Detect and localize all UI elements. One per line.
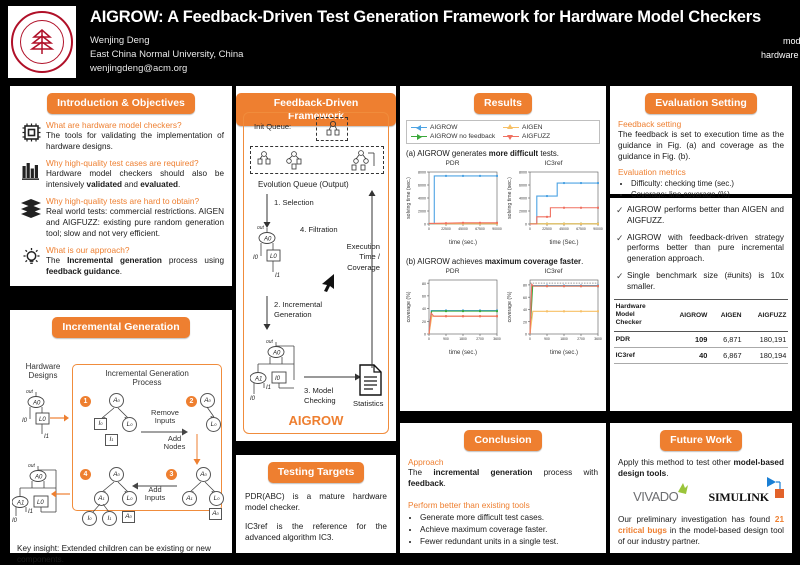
svg-text:4000: 4000 [519,196,527,200]
svg-text:60: 60 [523,295,527,299]
svg-text:0: 0 [428,227,430,231]
section-introduction: Introduction & Objectives [10,86,232,286]
svg-text:I1: I1 [275,273,280,279]
svg-text:2700: 2700 [476,337,484,341]
chart-svg: 02000400060008000022500450006750090000ti… [504,168,603,246]
conclusion-bullets: Generate more difficult test cases. Achi… [420,512,598,548]
intro-text: Why high-quality test cases are required… [46,158,224,190]
svg-text:67500: 67500 [475,227,485,231]
section-findings: ✓ AIGROW performs better than AIGEN and … [610,198,792,411]
intro-item: Why high-quality test cases are required… [16,158,224,190]
svg-text:L0: L0 [270,254,277,260]
evolution-queue-label: Evolution Queue (Output) [258,180,349,190]
conclusion-bullet: Generate more difficult test cases. [420,512,598,524]
svg-text:A0: A0 [32,400,41,406]
legend-label: AIGEN [522,124,543,131]
cell-aigen: 6,871 [709,331,743,347]
testing-target-pdr: PDR(ABC) is a mature hardware model chec… [245,491,387,513]
tree4-node-a0b: A0 [122,511,135,523]
svg-text:time (sec.): time (sec.) [449,240,477,246]
keywords-block: Keywords: model-based testing hardware m… [761,22,800,63]
svg-text:solving time (sec.): solving time (sec.) [507,176,513,218]
feedback-hand-cursor-icon [318,272,340,294]
svg-text:22500: 22500 [441,227,451,231]
chart-svg: 0204060800900180027003600time (sec.)cove… [504,276,603,356]
results-table: HardwareModelChecker AIGROW AIGEN AIGFUZ… [614,299,789,364]
chip-icon [16,120,46,152]
check-icon: ✓ [616,233,627,265]
tree3-node-l0: L0 [209,491,224,506]
svg-text:22500: 22500 [542,227,552,231]
simulink-logo-text: SIMULINK [708,490,768,504]
legend-marker-aigrow-no-feedback [411,133,427,140]
hardware-designs-label: HardwareDesigns [18,362,68,380]
intro-question: Why high-quality tests are hard to obtai… [46,196,224,206]
tree3-node-a1: A1 [182,491,197,506]
finding-text: Single benchmark size (#units) is 10x sm… [627,271,784,293]
future-closing-text: Our preliminary investigation has found … [618,514,784,547]
legend-item-aigen: AIGEN [503,124,595,131]
tree4-node-i1: I1 [102,511,117,526]
svg-text:time (Sec.): time (Sec.) [549,240,578,246]
poster-root: AIGROW: A Feedback-Driven Test Generatio… [0,0,800,562]
svg-text:out: out [28,463,36,469]
author-email: wenjingdeng@acm.org [90,62,761,76]
cell-checker: PDR [614,331,666,347]
legend-label: AIGROW no feedback [430,133,495,140]
ecnu-logo [8,6,76,78]
check-icon: ✓ [616,205,627,227]
svg-text:2000: 2000 [519,209,527,213]
results-caption-b: (b) AIGROW achieves maximum coverage fas… [406,257,606,266]
cell-aigfuzz: 180,191 [744,331,789,347]
svg-text:solving time (sec.): solving time (sec.) [406,176,412,218]
finding-text: AIGROW performs better than AIGEN and AI… [627,205,784,227]
tree-node-i1: I1 [105,434,118,446]
table-header-row: HardwareModelChecker AIGROW AIGEN AIGFUZ… [614,299,789,331]
cell-aigrow: 40 [666,347,710,363]
section-title-evaluation: Evaluation Setting [645,93,757,114]
cell-aigen: 6,867 [709,347,743,363]
legend-label: AIGFUZZ [522,133,550,140]
intro-answer: The Incremental generation process using… [46,255,224,277]
framework-circuit-2: out A0 A1 I0 I1 I0 [250,336,308,402]
books-icon [16,158,46,190]
feedback-setting-text: The feedback is set to execution time as… [618,129,784,162]
section-title-incremental: Incremental Generation [52,317,189,338]
step4-label: 4. Filtration [300,225,338,234]
step-badge-1: 1 [80,396,91,407]
arrow-add-inputs-icon [132,481,178,491]
simulink-logo: SIMULINK [708,488,768,506]
chart-title: IC3ref [504,268,603,275]
step2-label: 2. IncrementalGeneration [274,300,322,320]
stack-icon [16,196,46,239]
legend-label: AIGROW [430,124,457,131]
chart-ic3ref-solving-time: IC3ref 020004000600080000225004500067500… [504,160,603,251]
svg-text:90000: 90000 [593,227,603,231]
svg-text:3600: 3600 [493,337,501,341]
framework-circuit-1: out A0 L0 I0 I1 [252,222,300,284]
process-label: Incremental GenerationProcess [78,369,216,387]
svg-text:0: 0 [428,337,430,341]
section-title-future-work: Future Work [660,430,742,451]
poster-header: AIGROW: A Feedback-Driven Test Generatio… [0,0,800,84]
ecnu-tree-icon [29,28,55,56]
svg-text:67500: 67500 [576,227,586,231]
svg-text:L0: L0 [39,417,46,423]
svg-text:A1: A1 [16,500,24,506]
cell-aigfuzz: 180,194 [744,347,789,363]
section-conclusion: Conclusion Approach The incremental gene… [400,423,606,553]
intro-text: Why high-quality tests are hard to obtai… [46,196,224,239]
legend-marker-aigfuzz [503,133,519,140]
svg-text:0: 0 [424,222,426,226]
svg-text:I0: I0 [12,518,18,524]
remove-inputs-label: RemoveInputs [143,409,187,426]
conclusion-bullet: Fewer redundant units in a single test. [420,536,598,548]
cell-checker: IC3ref [614,347,666,363]
finding-item: ✓ AIGROW performs better than AIGEN and … [616,205,784,227]
legend-item-aigfuzz: AIGFUZZ [503,133,595,140]
evaluation-metrics-heading: Evaluation metrics [618,167,784,177]
chart-legend: AIGROW AIGEN AIGROW no feedback AIGFUZZ [406,120,600,144]
chart-svg: 02000400060008000022500450006750090000ti… [403,168,502,246]
evolution-queue-trees-icon [256,150,382,172]
simulink-mark-icon [766,477,784,499]
intro-answer: The tools for validating the implementat… [46,130,224,152]
step1-label: 1. Selection [274,198,314,207]
section-title-results: Results [474,93,532,114]
svg-text:out: out [257,225,265,231]
section-future-work: Future Work Apply this method to test ot… [610,423,792,553]
finding-item: ✓ Single benchmark size (#units) is 10x … [616,271,784,293]
init-queue-label: Init Queue: [254,122,291,131]
header-text-block: AIGROW: A Feedback-Driven Test Generatio… [76,8,761,75]
svg-text:0: 0 [529,227,531,231]
table-header-aigen: AIGEN [709,299,743,331]
chart-pdr-solving-time: PDR 020004000600080000225004500067500900… [403,160,502,251]
svg-text:60: 60 [422,294,426,298]
feedback-setting-heading: Feedback setting [618,119,784,129]
intro-item: What are hardware model checkers? The to… [16,120,224,152]
approach-text: The incremental generation process with … [408,467,598,489]
charts-row-difficulty: PDR 020004000600080000225004500067500900… [400,160,606,251]
svg-text:8000: 8000 [418,170,426,174]
step-badge-3: 3 [166,469,177,480]
svg-text:time (sec.): time (sec.) [550,350,578,356]
tree-node-l0: L0 [122,417,137,432]
svg-text:I1: I1 [28,509,33,515]
svg-text:out: out [26,389,34,395]
tree-node-i0: I0 [94,418,107,430]
svg-text:900: 900 [443,337,449,341]
step-badge-4: 4 [80,469,91,480]
svg-text:90000: 90000 [492,227,502,231]
section-incremental-generation: Incremental Generation HardwareDesigns o… [10,310,232,553]
intro-question: What are hardware model checkers? [46,120,224,130]
svg-text:0: 0 [529,337,531,341]
svg-text:45000: 45000 [559,227,569,231]
results-caption-a: (a) AIGROW generates more difficult test… [406,149,606,158]
svg-text:40: 40 [422,307,426,311]
tree4-node-i0: I0 [82,511,97,526]
arrow-right-1-icon [50,412,70,424]
svg-text:I0: I0 [22,418,28,424]
svg-text:0: 0 [525,332,527,336]
tree2-node-l0: L0 [206,417,221,432]
section-testing-targets: Testing Targets PDR(ABC) is a mature har… [236,455,396,553]
legend-item-aigrow: AIGROW [411,124,503,131]
svg-text:A0: A0 [272,351,281,357]
add-nodes-label: AddNodes [158,435,191,452]
chart-ic3ref-coverage: IC3ref 0204060800900180027003600time (se… [504,268,603,361]
ecnu-seal-icon [11,11,73,73]
arrow-model-checking-icon [304,372,362,382]
svg-text:I1: I1 [44,434,49,440]
intro-question: What is our approach? [46,245,224,255]
svg-text:A0: A0 [34,474,43,480]
svg-text:40: 40 [523,308,527,312]
page-title: AIGROW: A Feedback-Driven Test Generatio… [90,8,761,27]
svg-text:time (sec.): time (sec.) [449,350,477,356]
vivado-logo: VIVADO [633,488,678,506]
intro-question: Why high-quality test cases are required… [46,158,224,168]
svg-text:0: 0 [525,222,527,226]
svg-text:45000: 45000 [458,227,468,231]
statistics-document-icon [358,364,384,397]
svg-text:0: 0 [424,332,426,336]
key-insight-text: Key insight: Extended children can be ex… [10,543,232,565]
svg-text:20: 20 [523,320,527,324]
svg-text:I0: I0 [250,396,256,402]
table-row: IC3ref 40 6,867 180,194 [614,347,789,363]
svg-text:coverage (%): coverage (%) [406,291,412,322]
init-queue-tree-icon [324,120,342,138]
svg-text:coverage (%): coverage (%) [507,291,513,322]
keyword-2: hardware model checkers [761,49,800,63]
svg-text:I0: I0 [275,376,281,382]
svg-text:I0: I0 [253,255,259,261]
metric-item: Difficulty: checking time (sec.) [631,178,784,190]
legend-marker-aigrow [411,124,427,131]
intro-item: What is our approach? The Incremental ge… [16,245,224,277]
chart-pdr-coverage: PDR 0204060800900180027003600time (sec.)… [403,268,502,361]
chart-title: PDR [403,160,502,167]
legend-marker-aigen [503,124,519,131]
cell-aigrow: 109 [666,331,710,347]
svg-text:3600: 3600 [594,337,602,341]
section-results: Results AIGROW AIGEN AIGROW no feedback [400,86,606,411]
svg-text:6000: 6000 [519,183,527,187]
table-header-aigrow: AIGROW [666,299,710,331]
check-icon: ✓ [616,271,627,293]
intro-answer: Hardware model checkers should also be i… [46,168,224,190]
svg-text:80: 80 [523,283,527,287]
arrow-incremental-icon [262,296,272,330]
svg-text:out: out [266,339,274,345]
arrow-left-2-icon [50,488,70,500]
chart-title: PDR [403,268,502,275]
step-badge-2: 2 [186,396,197,407]
chart-svg: 0204060800900180027003600time (sec.)cove… [403,276,502,356]
vivado-logo-text: VIVADO [633,489,678,504]
finding-text: AIGROW with feedback-driven strategy per… [627,233,784,265]
keyword-1: model-based testing [761,35,800,49]
intro-text: What are hardware model checkers? The to… [46,120,224,152]
step3-label: 3. ModelChecking [304,386,336,406]
intro-text: What is our approach? The Incremental ge… [46,245,224,277]
svg-text:A1: A1 [254,377,262,383]
feedback-return-arrow-icon [366,190,378,368]
svg-text:L0: L0 [37,500,44,506]
section-framework: Feedback-Driven Framework Init Queue: [236,86,396,441]
tool-logos: VIVADO SIMULINK [618,488,784,506]
charts-row-coverage: PDR 0204060800900180027003600time (sec.)… [400,268,606,361]
lightbulb-icon [16,245,46,277]
svg-text:900: 900 [544,337,550,341]
intro-item: Why high-quality tests are hard to obtai… [16,196,224,239]
finding-item: ✓ AIGROW with feedback-driven strategy p… [616,233,784,265]
section-evaluation-setting: Evaluation Setting Feedback setting The … [610,86,792,194]
section-title-conclusion: Conclusion [464,430,541,451]
svg-text:I1: I1 [266,385,271,391]
tree3-node-a0b: A0 [209,508,222,520]
svg-text:8000: 8000 [519,170,527,174]
incremental-diagram: HardwareDesigns out A0 L0 I0 I1 Incre [10,338,232,543]
svg-text:2700: 2700 [577,337,585,341]
svg-text:6000: 6000 [418,183,426,187]
intro-answer: Real world tests: commercial restriction… [46,206,224,239]
svg-text:1800: 1800 [459,337,467,341]
svg-text:2000: 2000 [418,209,426,213]
vivado-mark-icon [677,483,689,495]
legend-item-aigrow-no-feedback: AIGROW no feedback [411,133,503,140]
svg-text:20: 20 [422,319,426,323]
statistics-label: Statistics [353,399,383,408]
svg-text:A0: A0 [263,237,272,243]
chart-title: IC3ref [504,160,603,167]
author-affiliation: East China Normal University, China [90,48,761,62]
section-title-testing-targets: Testing Targets [268,462,365,483]
future-apply-text: Apply this method to test other model-ba… [618,457,784,479]
aigrow-brand: AIGROW [236,413,396,428]
svg-text:4000: 4000 [418,196,426,200]
svg-text:80: 80 [422,281,426,285]
author-name: Wenjing Deng [90,34,761,48]
table-row: PDR 109 6,871 180,191 [614,331,789,347]
arrow-add-nodes-icon [192,434,202,466]
keywords-label: Keywords: [761,22,800,36]
conclusion-bullet: Achieve maximum coverage faster. [420,524,598,536]
testing-target-ic3ref: IC3ref is the reference for the advanced… [245,521,387,543]
table-header-aigfuzz: AIGFUZZ [744,299,789,331]
introduction-items: What are hardware model checkers? The to… [10,114,232,278]
author-block: Wenjing Deng East China Normal Universit… [90,34,761,75]
svg-text:1800: 1800 [560,337,568,341]
perform-heading: Perform better than existing tools [408,500,598,510]
table-header-checker: HardwareModelChecker [614,299,666,331]
approach-heading: Approach [408,457,598,467]
section-title-introduction: Introduction & Objectives [47,93,195,114]
